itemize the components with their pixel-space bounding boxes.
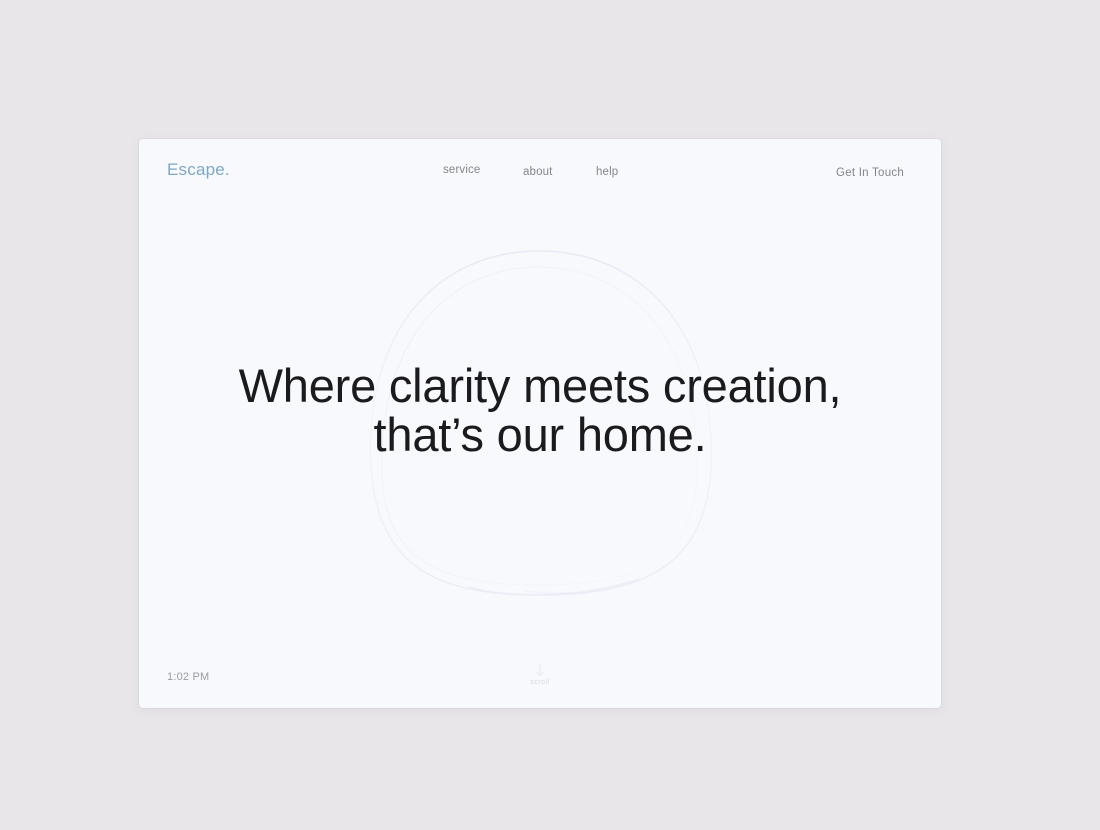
hero-headline-line-1: Where clarity meets creation,: [139, 361, 941, 410]
nav-link-service[interactable]: service: [443, 164, 480, 176]
brand-logo[interactable]: Escape.: [167, 160, 230, 180]
scroll-indicator[interactable]: scroll: [530, 663, 549, 686]
primary-nav: service about help: [436, 164, 646, 186]
website-card: Escape. service about help Get In Touch …: [139, 139, 941, 708]
arrow-down-icon: [536, 663, 545, 678]
scroll-label: scroll: [530, 679, 549, 686]
nav-link-about[interactable]: about: [523, 166, 553, 178]
hero-section: Where clarity meets creation, that’s our…: [139, 361, 941, 459]
nav-link-help[interactable]: help: [596, 166, 618, 178]
screen: Escape. service about help Get In Touch …: [0, 0, 1100, 830]
clock-label: 1:02 PM: [167, 671, 209, 683]
hero-headline-line-2: that’s our home.: [139, 410, 941, 459]
site-header: Escape. service about help Get In Touch: [139, 139, 941, 209]
get-in-touch-button[interactable]: Get In Touch: [836, 167, 904, 179]
